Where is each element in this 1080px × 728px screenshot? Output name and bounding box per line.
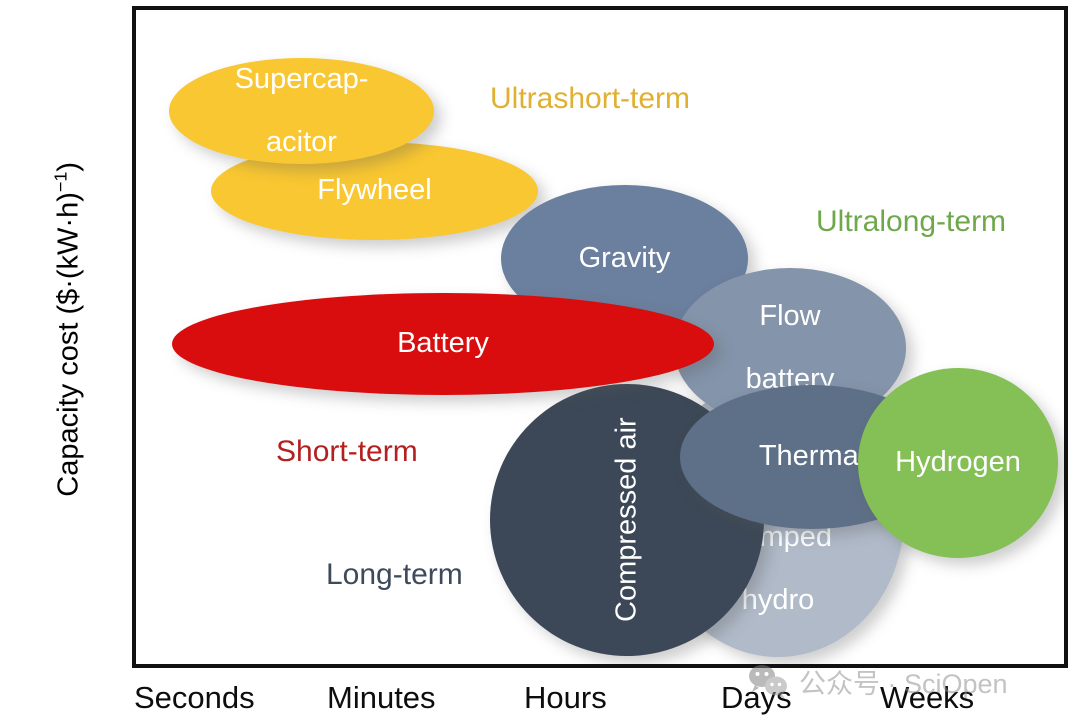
blob-gravity-label: Gravity bbox=[575, 243, 675, 274]
label-line-1: Supercap- bbox=[231, 64, 373, 95]
x-tick-seconds: Seconds bbox=[134, 680, 255, 716]
annotation-long-term: Long-term bbox=[326, 558, 463, 592]
capacity-cost-vs-duration-chart: Capacity cost ($·(kW·h)−1) 104 103 102 1… bbox=[0, 0, 1080, 728]
y-axis-label: Capacity cost ($·(kW·h)−1) bbox=[51, 29, 86, 629]
x-tick-hours: Hours bbox=[524, 680, 607, 716]
x-tick-minutes: Minutes bbox=[327, 680, 436, 716]
blob-hydrogen-label: Hydrogen bbox=[891, 447, 1025, 478]
y-axis-label-exponent: −1 bbox=[51, 172, 71, 193]
blob-battery: Battery bbox=[172, 293, 714, 395]
y-axis-label-base: Capacity cost ($·(kW·h) bbox=[52, 192, 84, 497]
blob-flow-battery-label: Flowbattery bbox=[738, 301, 843, 395]
plot-area: Supercap-acitor Flywheel Gravity Battery… bbox=[132, 6, 1068, 668]
label-line-2: acitor bbox=[231, 127, 373, 158]
blob-hydrogen: Hydrogen bbox=[858, 368, 1058, 558]
blob-compressed-air-label: Compressed air bbox=[611, 414, 642, 627]
annotation-ultrashort-term: Ultrashort-term bbox=[490, 82, 690, 116]
y-axis-label-tail: ) bbox=[52, 162, 84, 172]
blob-battery-label: Battery bbox=[393, 328, 493, 359]
blob-thermal-label: Thermal bbox=[755, 441, 869, 472]
annotation-ultralong-term: Ultralong-term bbox=[816, 205, 1006, 239]
blob-supercapacitor: Supercap-acitor bbox=[169, 58, 434, 164]
x-tick-weeks: Weeks bbox=[880, 680, 974, 716]
label-line-1: Flow bbox=[742, 301, 839, 332]
blob-supercapacitor-label: Supercap-acitor bbox=[227, 64, 377, 158]
annotation-short-term: Short-term bbox=[276, 435, 418, 469]
x-tick-days: Days bbox=[721, 680, 792, 716]
blob-flywheel-label: Flywheel bbox=[313, 175, 435, 206]
